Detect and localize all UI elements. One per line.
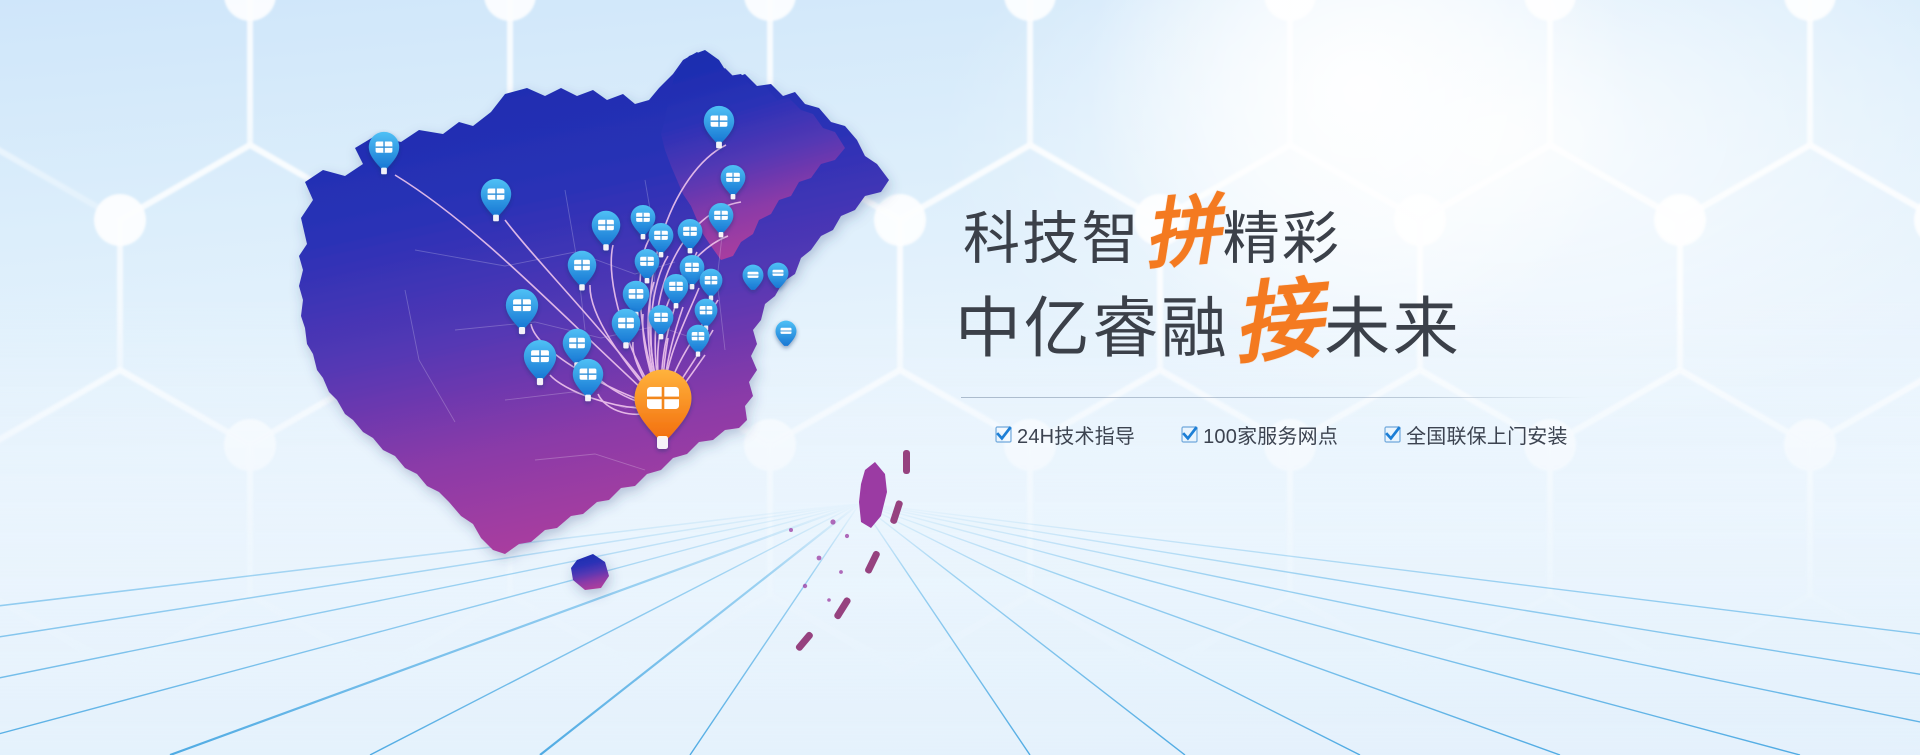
feature-label: 全国联保上门安装 bbox=[1406, 420, 1568, 449]
check-box-icon bbox=[1181, 426, 1198, 443]
headline-line2-brush-char: 接 bbox=[1224, 272, 1330, 377]
headline-line1-suffix: 精彩 bbox=[1223, 208, 1342, 271]
feature-item: 100家服务网点 bbox=[1181, 420, 1338, 449]
feature-list: 24H技术指导 100家服务网点 全国联保上门安装 bbox=[995, 420, 1655, 449]
headline-divider bbox=[961, 397, 1589, 398]
check-box-icon bbox=[995, 426, 1012, 443]
headline-line-1: 科技智拼精彩 bbox=[955, 195, 1655, 274]
feature-label: 100家服务网点 bbox=[1203, 420, 1338, 449]
headline-line1-prefix: 科技智 bbox=[963, 208, 1141, 271]
feature-label: 24H技术指导 bbox=[1017, 420, 1135, 449]
china-map bbox=[205, 30, 925, 630]
headline-line1-brush-char: 拼 bbox=[1136, 190, 1228, 279]
headline-line2-suffix: 未来 bbox=[1324, 293, 1461, 366]
headline-line2-prefix: 中亿睿融 bbox=[955, 293, 1230, 366]
check-box-icon bbox=[1384, 426, 1401, 443]
feature-item: 24H技术指导 bbox=[995, 420, 1135, 449]
headline-line-2: 中亿睿融接未来 bbox=[955, 278, 1655, 371]
feature-item: 全国联保上门安装 bbox=[1384, 420, 1568, 449]
copy-block: 科技智拼精彩 中亿睿融接未来 24H技术指导 100家服务网点 bbox=[955, 195, 1655, 449]
promo-banner: 科技智拼精彩 中亿睿融接未来 24H技术指导 100家服务网点 bbox=[0, 0, 1920, 755]
